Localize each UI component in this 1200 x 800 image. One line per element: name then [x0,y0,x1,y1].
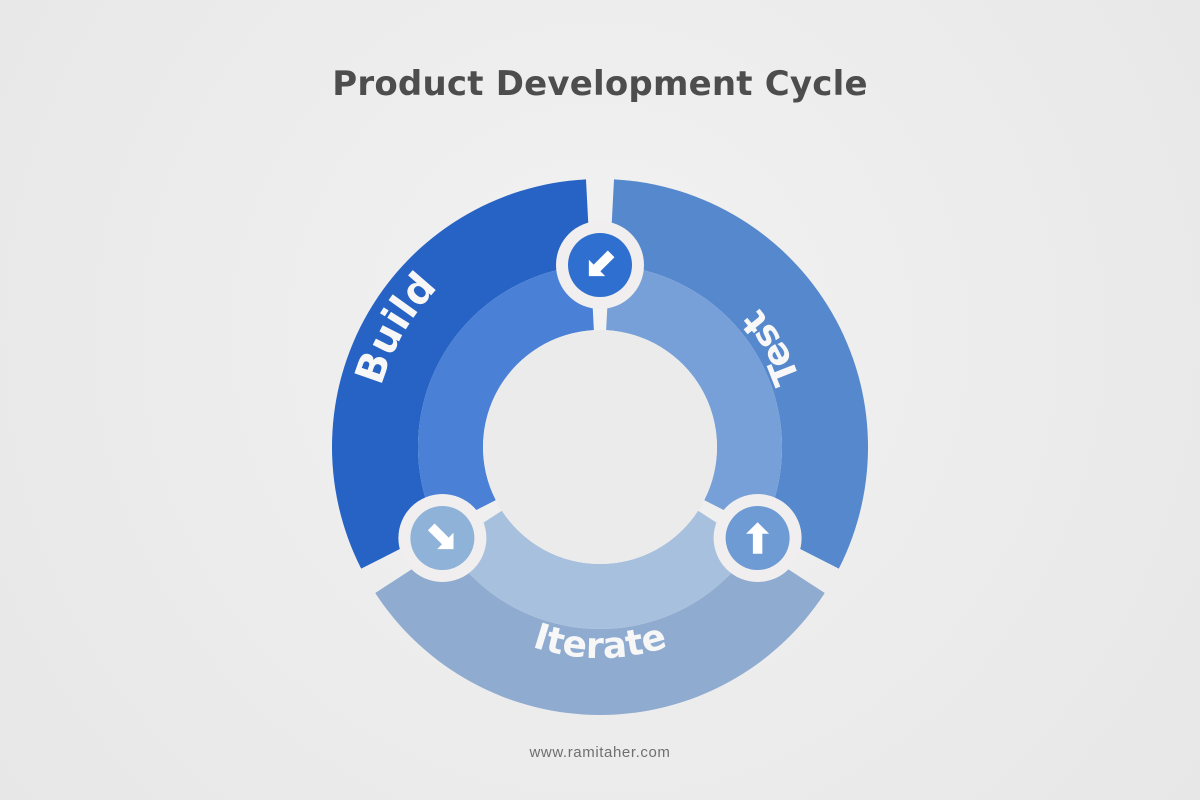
diagram-canvas: Product Development Cycle Build Test [0,0,1200,800]
connector-badge-build-to-test[interactable] [556,221,644,309]
footer-url: www.ramitaher.com [0,744,1200,761]
product-development-cycle-diagram: Build Test Iterate [0,0,1200,800]
center-hole [483,330,717,564]
connector-badge-iterate-to-build[interactable] [398,494,486,582]
connector-badge-test-to-iterate[interactable] [714,494,802,582]
